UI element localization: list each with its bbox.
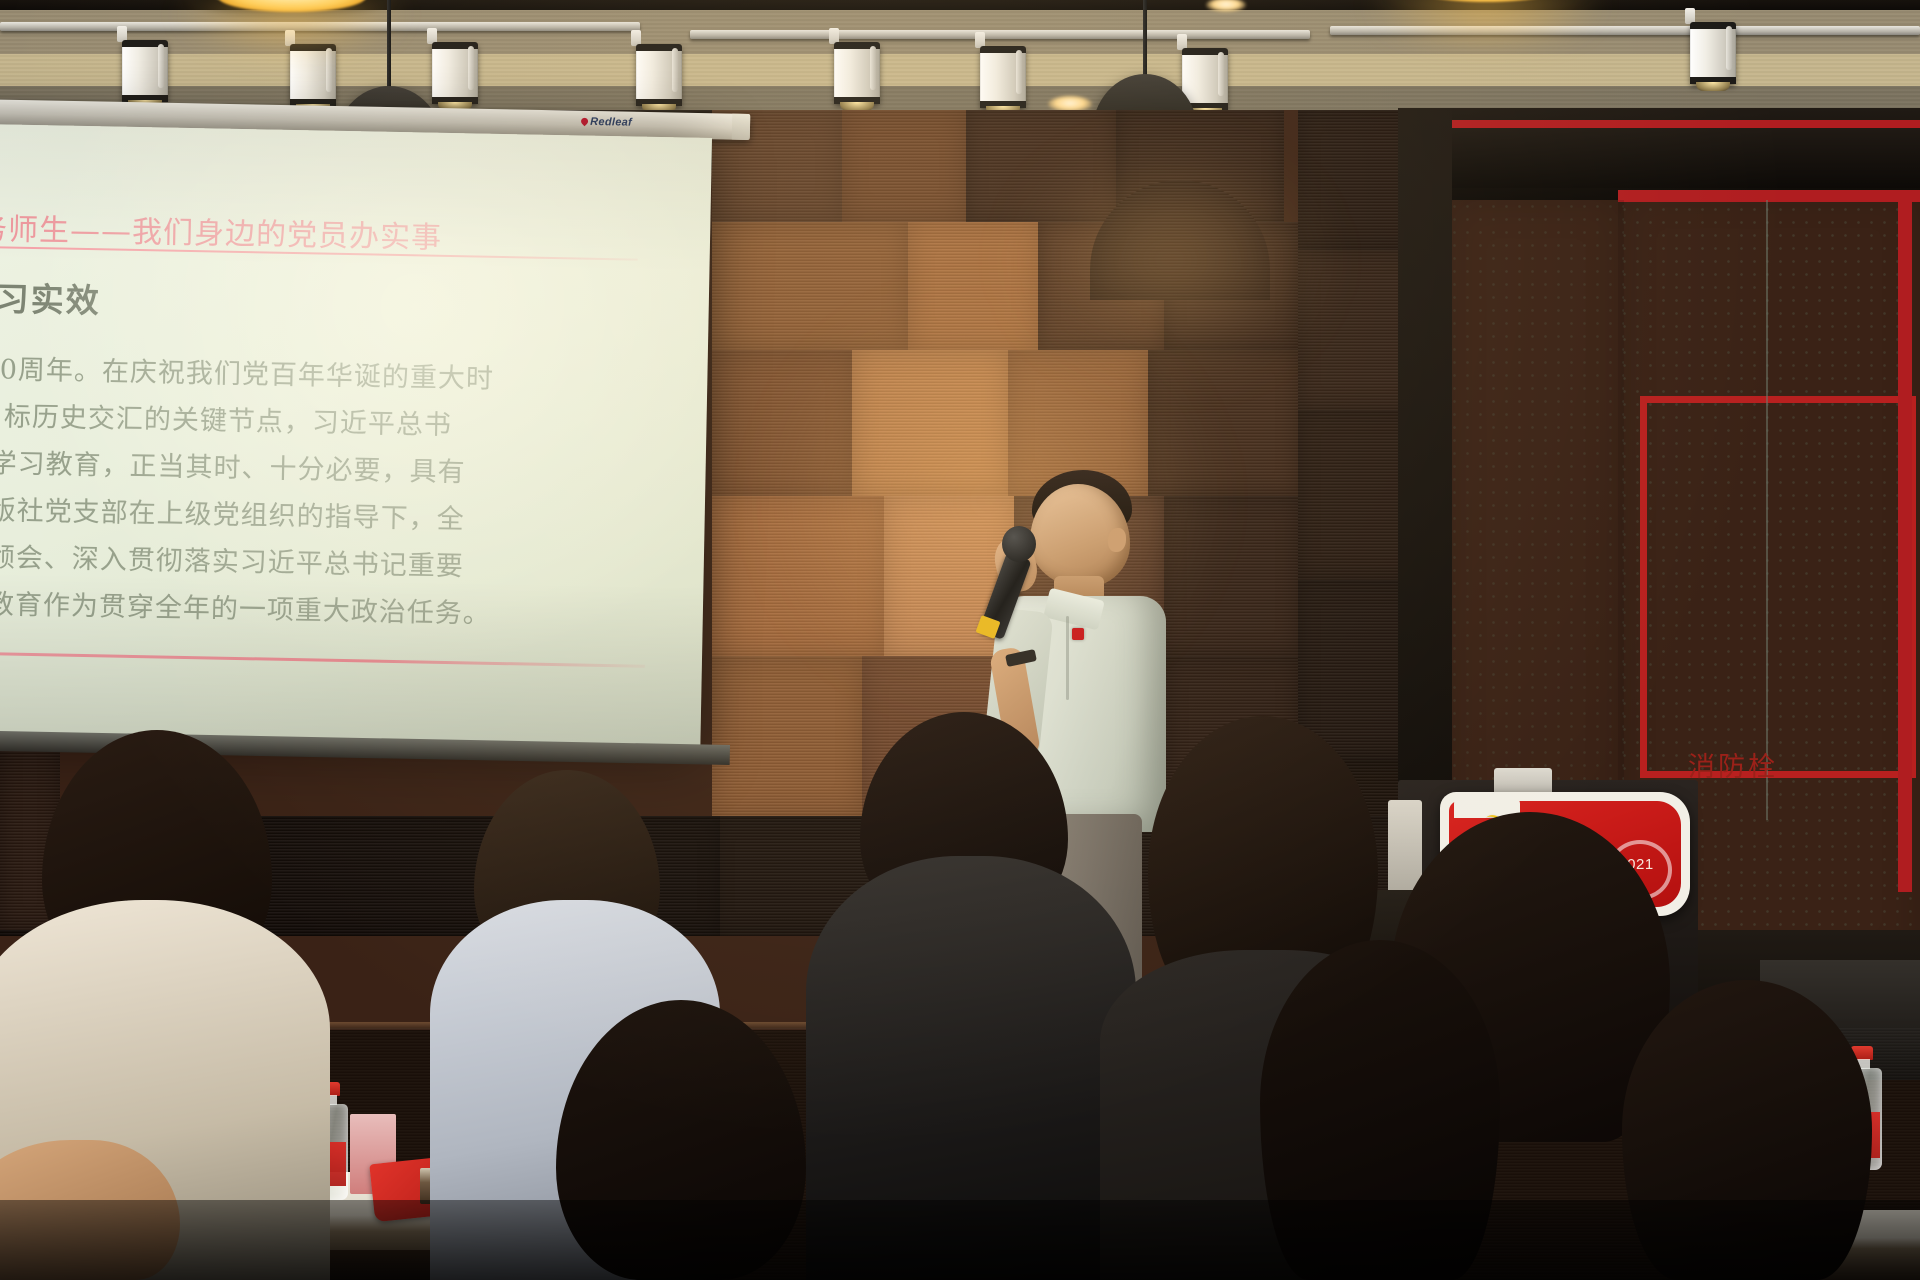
microphone-head [1002,526,1036,562]
audience-shoulders [806,856,1136,1280]
red-vertical-stripe [1898,202,1912,892]
fire-hydrant-sign: 消防栓 [1688,745,1778,784]
presenter-ear [1108,528,1126,552]
audience-member [556,1000,806,1280]
light-track-left [0,22,640,31]
audience-member [1260,940,1500,1280]
audience-member [1622,980,1872,1280]
slide-title-text: 增强学习实效 [0,270,101,322]
red-accent-stripe [1618,190,1920,202]
ceiling-panel-mid [0,54,1920,88]
projection-screen: 谋，服务师生——我们身边的党员办实事 增强学习实效 党成立100周年。在庆祝我们… [0,123,712,760]
presentation-hall-photo: Redleaf 谋，服务师生——我们身边的党员办实事 增强学习实效 党成立100… [0,0,1920,1280]
presenter-placket [1066,616,1069,700]
audience-member-hand [0,1140,180,1280]
slide-footer-rule [0,650,645,668]
leaf-icon [580,116,590,126]
pendant-lamp [1392,0,1582,14]
party-badge [1072,628,1084,640]
slide-body-text: 党成立100周年。在庆祝我们党百年华诞的重大时 年"奋斗目标历史交汇的关键节点，… [0,344,496,638]
cabinet-red-frame [1640,396,1916,778]
light-track-center [690,30,1310,39]
right-upper-shadow [1448,128,1920,188]
light-track-right [1330,26,1920,35]
housing-end-cap [732,114,750,140]
panel-seam [1766,200,1768,820]
projector-brand-label: Redleaf [590,116,632,129]
